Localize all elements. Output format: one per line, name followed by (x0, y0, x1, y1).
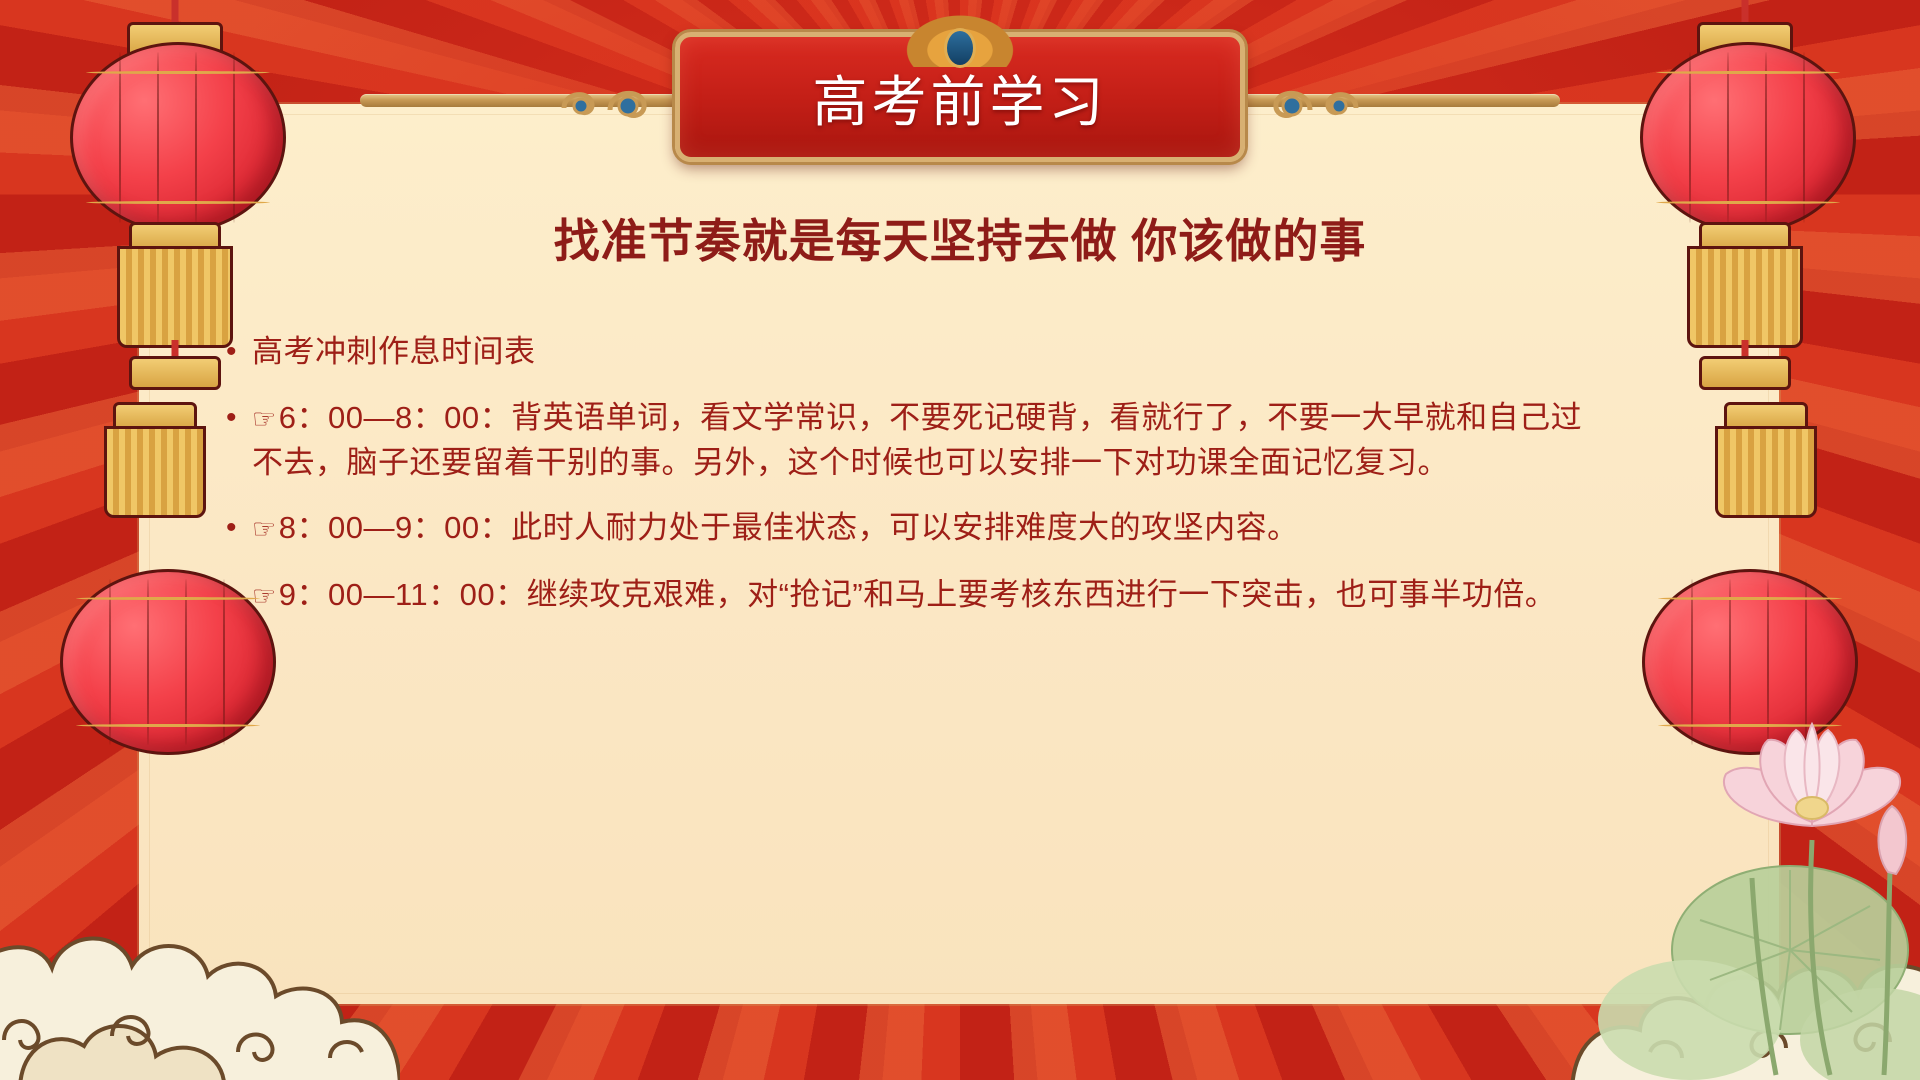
list-item: • ☞8：00—9：00：此时人耐力处于最佳状态，可以安排难度大的攻坚内容。 (226, 506, 1596, 551)
lantern-tassel-icon (1650, 420, 1860, 540)
slide-root: 高考前学习 找准节奏就是每天坚持去做 你该做的事 • 高考冲刺作息时间表 • ☞… (0, 0, 1920, 1080)
bullet-text: 高考冲刺作息时间表 (252, 330, 536, 373)
pointing-hand-icon: ☞ (252, 581, 277, 611)
title-plaque-group: 高考前学习 (360, 26, 1560, 166)
lantern-tassel-icon (60, 420, 270, 540)
list-item: • ☞6：00—8：00：背英语单词，看文学常识，不要死记硬背，看就行了，不要一… (226, 396, 1596, 484)
bullet-text-content: 6：00—8：00：背英语单词，看文学常识，不要死记硬背，看就行了，不要一大早就… (252, 400, 1582, 480)
cloud-swirl-icon (556, 78, 676, 130)
title-plaque: 高考前学习 (675, 32, 1245, 162)
lotus-flower-icon (1360, 620, 1920, 1080)
list-item: • 高考冲刺作息时间表 (226, 330, 1596, 374)
cloud-swirl-icon (1244, 78, 1364, 130)
bullet-text: ☞6：00—8：00：背英语单词，看文学常识，不要死记硬背，看就行了，不要一大早… (252, 396, 1596, 484)
bullet-text: ☞8：00—9：00：此时人耐力处于最佳状态，可以安排难度大的攻坚内容。 (252, 506, 1299, 551)
lantern-icon (1630, 0, 1860, 470)
lantern-icon (60, 0, 290, 470)
list-item: • ☞9：00—11：00：继续攻克艰难，对“抢记”和马上要考核东西进行一下突击… (226, 573, 1596, 618)
bullet-text-content: 9：00—11：00：继续攻克艰难，对“抢记”和马上要考核东西进行一下突击，也可… (279, 577, 1557, 612)
auspicious-cloud-icon (0, 790, 400, 1080)
bullet-text: ☞9：00—11：00：继续攻克艰难，对“抢记”和马上要考核东西进行一下突击，也… (252, 573, 1556, 618)
bullet-list: • 高考冲刺作息时间表 • ☞6：00—8：00：背英语单词，看文学常识，不要死… (226, 330, 1596, 640)
page-title: 高考前学习 (812, 57, 1107, 137)
bullet-text-content: 8：00—9：00：此时人耐力处于最佳状态，可以安排难度大的攻坚内容。 (279, 510, 1299, 545)
